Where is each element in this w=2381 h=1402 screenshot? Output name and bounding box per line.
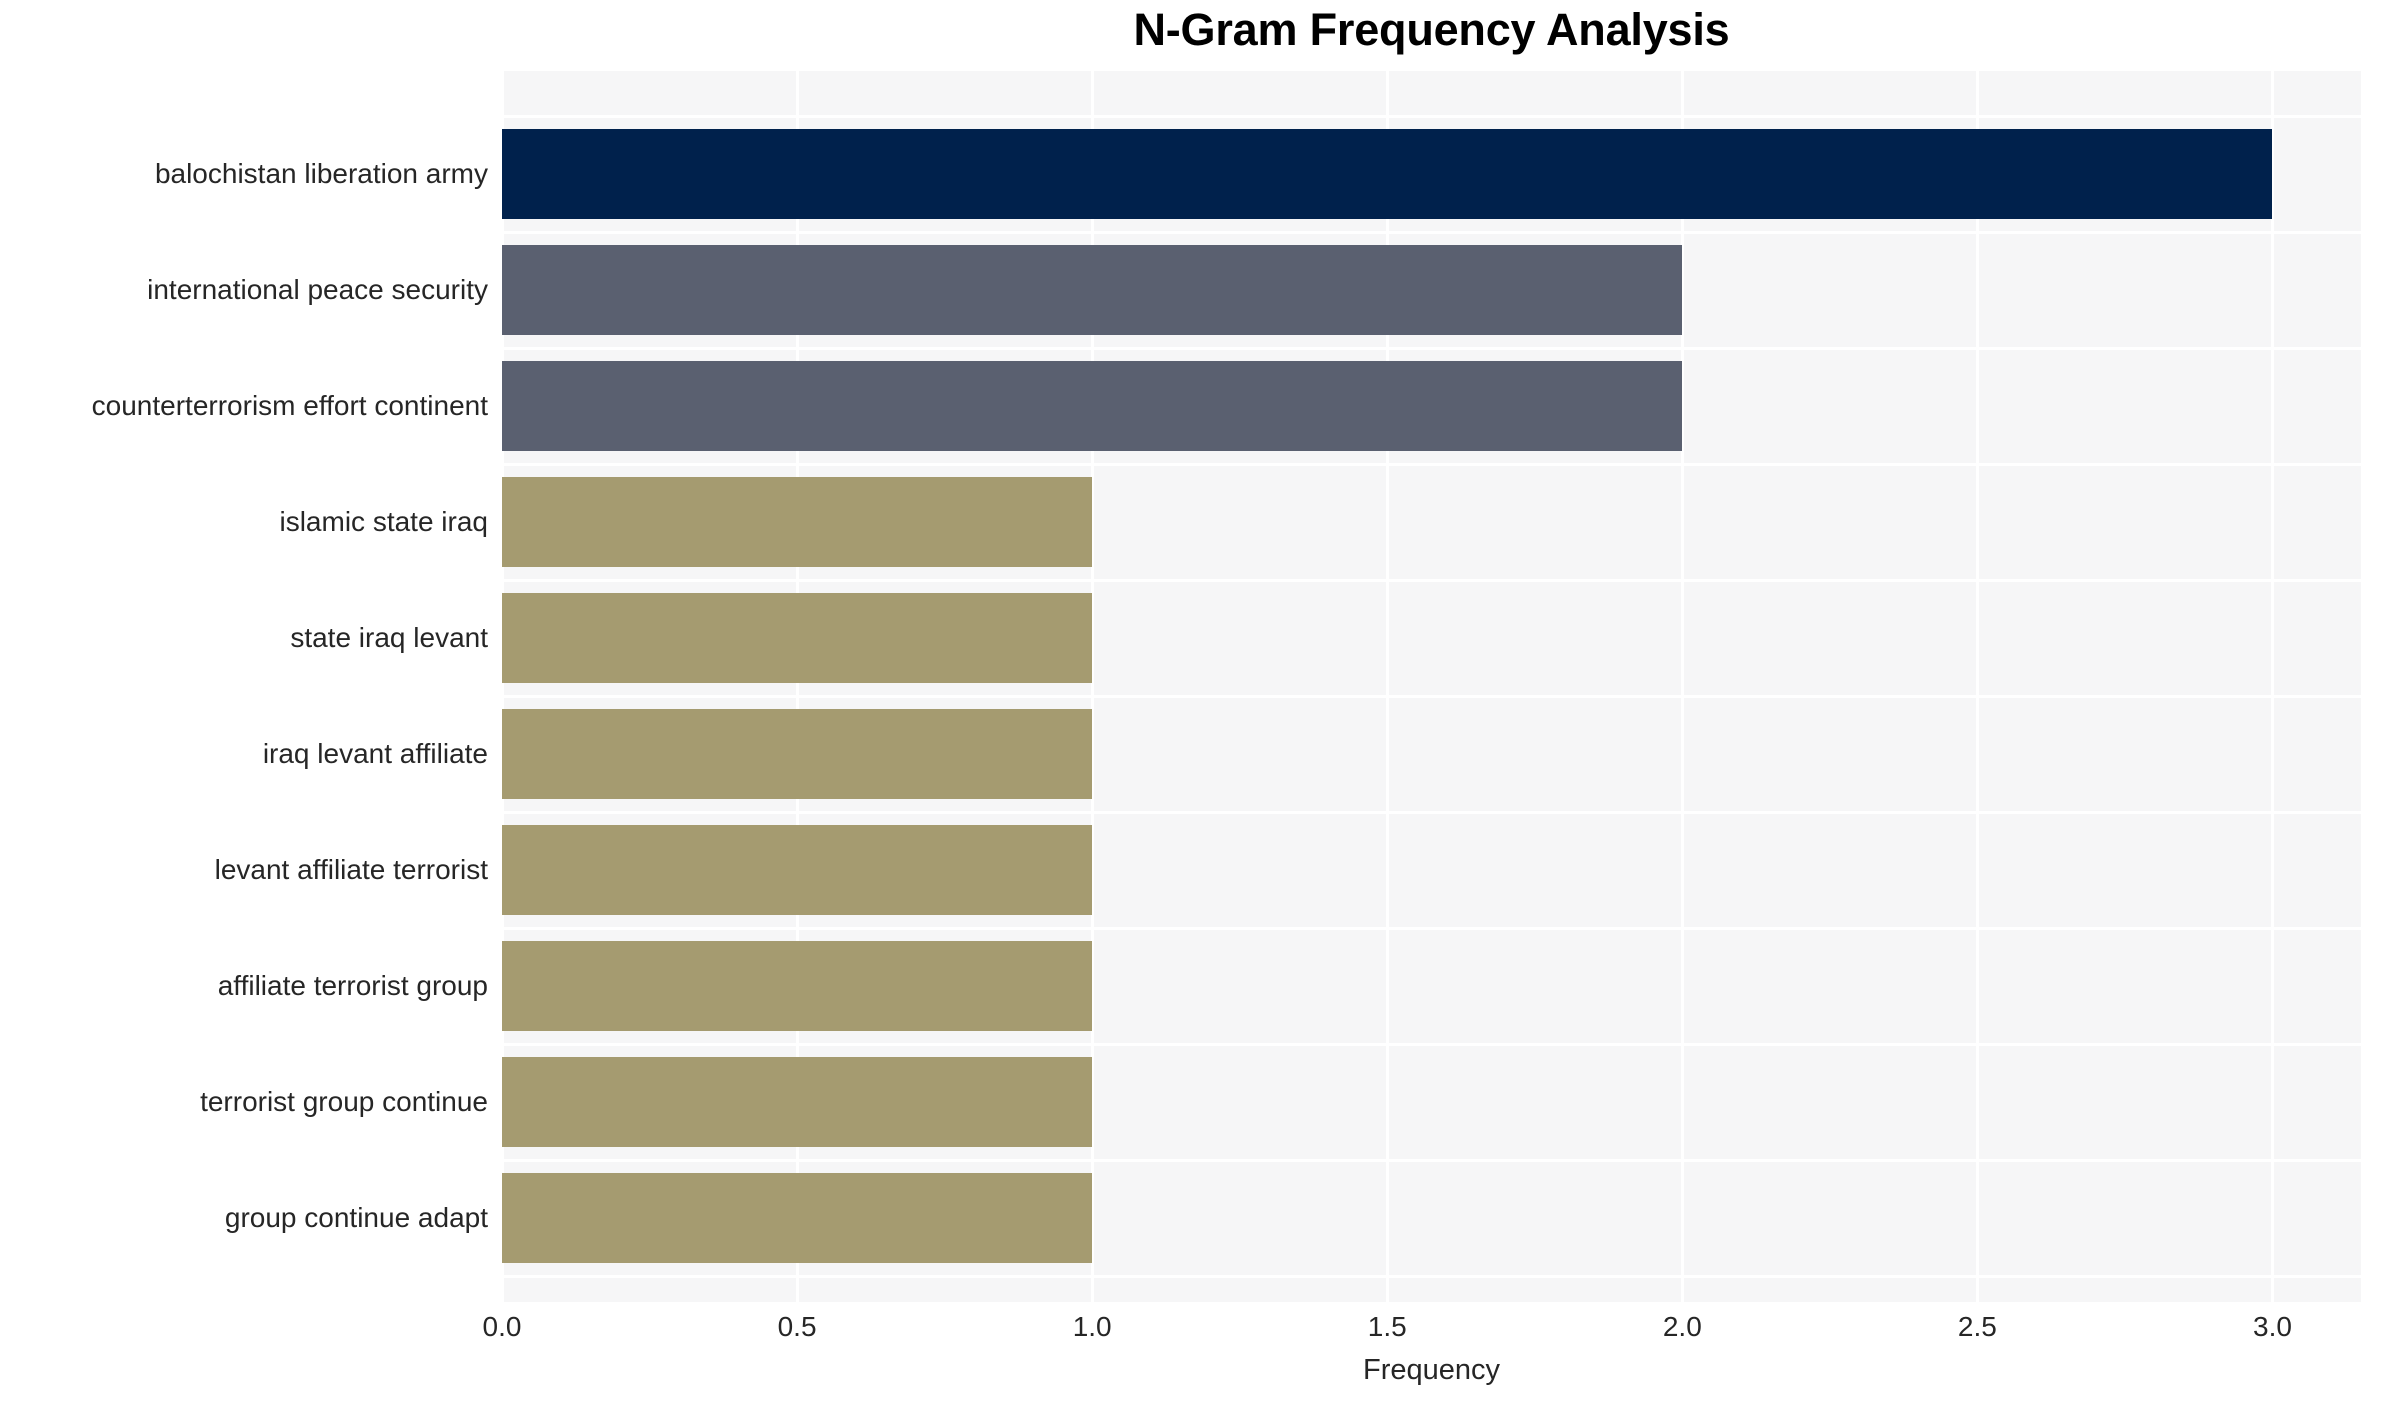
- bar[interactable]: [502, 941, 1092, 1031]
- y-gridline: [502, 579, 2361, 582]
- y-gridline: [502, 1043, 2361, 1046]
- x-axis-tick-label: 2.5: [1897, 1310, 2057, 1344]
- x-axis-tick-label: 2.0: [1602, 1310, 1762, 1344]
- x-axis-tick-label: 1.5: [1307, 1310, 1467, 1344]
- bar[interactable]: [502, 593, 1092, 683]
- bar[interactable]: [502, 825, 1092, 915]
- plot-area: [502, 71, 2361, 1302]
- y-gridline: [502, 927, 2361, 930]
- y-axis-tick-label: state iraq levant: [0, 621, 488, 655]
- y-gridline: [502, 811, 2361, 814]
- bar[interactable]: [502, 361, 1682, 451]
- y-axis-tick-label: balochistan liberation army: [0, 157, 488, 191]
- chart-figure: N-Gram Frequency Analysis balochistan li…: [0, 0, 2381, 1402]
- bar[interactable]: [502, 709, 1092, 799]
- bar[interactable]: [502, 1057, 1092, 1147]
- y-axis-tick-label: terrorist group continue: [0, 1085, 488, 1119]
- y-axis-tick-label: islamic state iraq: [0, 505, 488, 539]
- bar[interactable]: [502, 129, 2272, 219]
- x-axis-tick-label: 3.0: [2192, 1310, 2352, 1344]
- y-gridline: [502, 695, 2361, 698]
- y-gridline: [502, 463, 2361, 466]
- y-axis-tick-labels: balochistan liberation armyinternational…: [0, 0, 488, 1402]
- bar[interactable]: [502, 477, 1092, 567]
- x-axis-tick-label: 0.0: [422, 1310, 582, 1344]
- y-gridline: [502, 115, 2361, 118]
- y-gridline: [502, 231, 2361, 234]
- bar[interactable]: [502, 1173, 1092, 1263]
- x-gridline: [2271, 71, 2274, 1302]
- y-axis-tick-label: iraq levant affiliate: [0, 737, 488, 771]
- y-axis-tick-label: counterterrorism effort continent: [0, 389, 488, 423]
- y-gridline: [502, 1159, 2361, 1162]
- x-axis-label: Frequency: [502, 1352, 2361, 1388]
- chart-title: N-Gram Frequency Analysis: [502, 4, 2361, 56]
- x-axis-tick-label: 0.5: [717, 1310, 877, 1344]
- y-gridline: [502, 347, 2361, 350]
- y-gridline: [502, 1275, 2361, 1278]
- x-axis-tick-label: 1.0: [1012, 1310, 1172, 1344]
- x-axis-tick-labels: 0.00.51.01.52.02.53.0: [0, 1310, 2381, 1350]
- bar[interactable]: [502, 245, 1682, 335]
- y-axis-tick-label: levant affiliate terrorist: [0, 853, 488, 887]
- x-gridline: [1976, 71, 1979, 1302]
- y-axis-tick-label: group continue adapt: [0, 1201, 488, 1235]
- y-axis-tick-label: affiliate terrorist group: [0, 969, 488, 1003]
- y-axis-tick-label: international peace security: [0, 273, 488, 307]
